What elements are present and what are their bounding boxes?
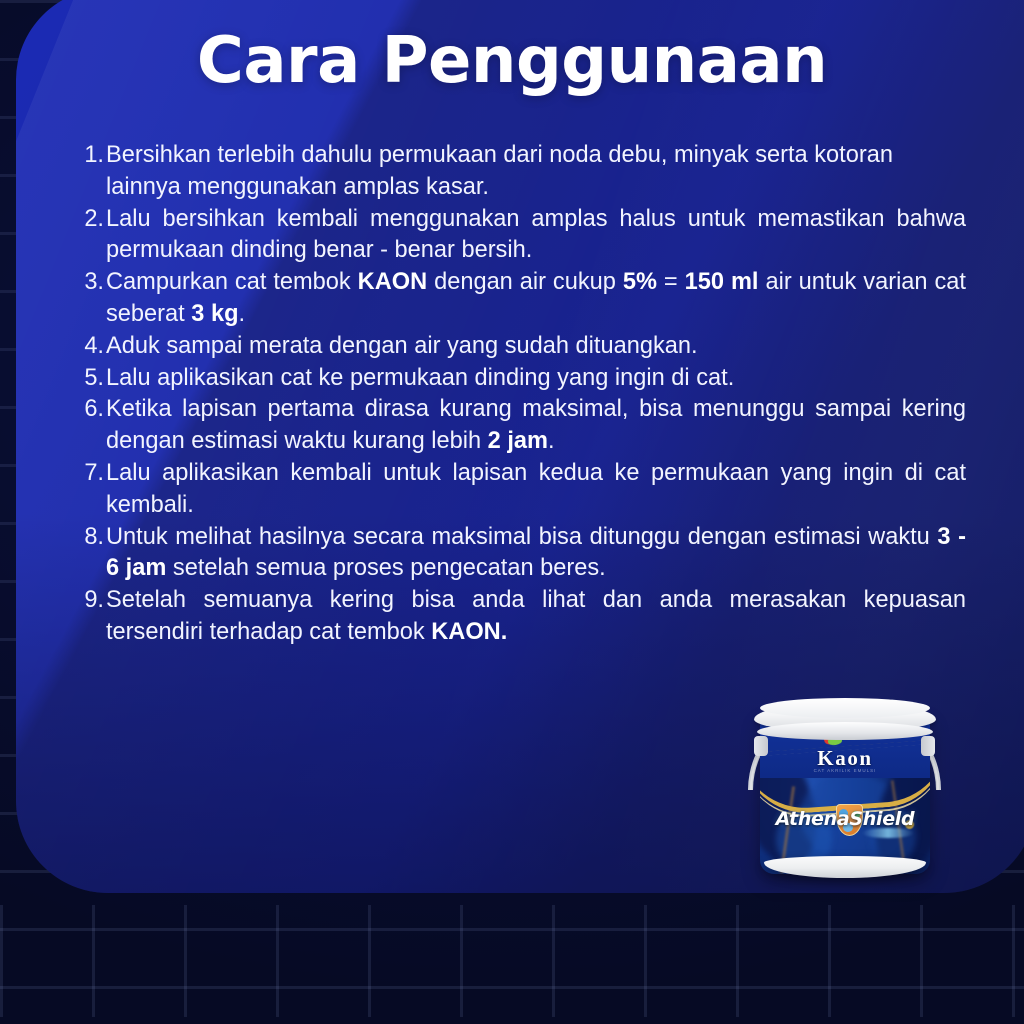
list-item-text: Lalu bersihkan kembali menggunakan ampla…	[106, 204, 966, 268]
body-text: Aduk sampai merata dengan air yang sudah…	[106, 333, 698, 359]
list-item: 4.Aduk sampai merata dengan air yang sud…	[78, 331, 966, 363]
list-item-text: Untuk melihat hasilnya secara maksimal b…	[106, 522, 966, 586]
body-text: =	[657, 269, 685, 295]
list-item: 5.Lalu aplikasikan cat ke permukaan dind…	[78, 363, 966, 395]
body-text: Campurkan cat tembok	[106, 269, 358, 295]
emphasis-text: 150 ml	[685, 269, 759, 295]
body-text: Untuk melihat hasilnya secara maksimal b…	[106, 524, 937, 550]
list-item: 2.Lalu bersihkan kembali menggunakan amp…	[78, 204, 966, 268]
emphasis-text: 3 kg	[191, 301, 238, 327]
list-item: 9.Setelah semuanya kering bisa anda liha…	[78, 585, 966, 649]
body-text: setelah semua proses pengecatan beres.	[166, 555, 605, 581]
list-item-text: Lalu aplikasikan kembali untuk lapisan k…	[106, 458, 966, 522]
body-text: Lalu aplikasikan kembali untuk lapisan k…	[106, 460, 966, 518]
body-text: .	[238, 301, 245, 327]
list-item-number: 6.	[78, 394, 106, 426]
list-item-number: 8.	[78, 522, 106, 554]
list-item: 8.Untuk melihat hasilnya secara maksimal…	[78, 522, 966, 586]
poster-canvas: Cara Penggunaan 1.Bersihkan terlebih dah…	[0, 0, 1024, 1024]
list-item-text: Setelah semuanya kering bisa anda lihat …	[106, 585, 966, 649]
list-item-number: 4.	[78, 331, 106, 363]
list-item-text: Ketika lapisan pertama dirasa kurang mak…	[106, 394, 966, 458]
list-item-text: Bersihkan terlebih dahulu permukaan dari…	[106, 140, 966, 204]
list-item: 7.Lalu aplikasikan kembali untuk lapisan…	[78, 458, 966, 522]
bucket-lid-top	[760, 698, 930, 718]
list-item-text: Aduk sampai merata dengan air yang sudah…	[106, 331, 966, 363]
body-text: dengan air cukup	[427, 269, 623, 295]
instruction-list: 1.Bersihkan terlebih dahulu permukaan da…	[78, 140, 966, 649]
emphasis-text: 2 jam	[488, 428, 548, 454]
list-item-number: 1.	[78, 140, 106, 172]
emphasis-text: KAON	[358, 269, 427, 295]
bucket-handle-ear-left	[754, 736, 768, 756]
bucket-rim	[757, 722, 933, 740]
water-wave-icon	[862, 828, 914, 838]
emphasis-text: KAON.	[431, 619, 507, 645]
body-text: Bersihkan terlebih dahulu permukaan dari…	[106, 142, 893, 200]
list-item-number: 2.	[78, 204, 106, 236]
list-item-number: 3.	[78, 267, 106, 299]
list-item: 1.Bersihkan terlebih dahulu permukaan da…	[78, 140, 966, 204]
list-item-number: 7.	[78, 458, 106, 490]
body-text: .	[548, 428, 555, 454]
list-item-number: 9.	[78, 585, 106, 617]
list-item: 6.Ketika lapisan pertama dirasa kurang m…	[78, 394, 966, 458]
bucket-handle-ear-right	[921, 736, 935, 756]
product-name: AthenaShield	[760, 808, 930, 830]
page-title: Cara Penggunaan	[0, 24, 1024, 98]
list-item-number: 5.	[78, 363, 106, 395]
list-item-text: Campurkan cat tembok KAON dengan air cuk…	[106, 267, 966, 331]
body-text: Lalu bersihkan kembali menggunakan ampla…	[106, 206, 966, 264]
list-item: 3.Campurkan cat tembok KAON dengan air c…	[78, 267, 966, 331]
emphasis-text: 5%	[623, 269, 657, 295]
product-image-paint-bucket: Kaon CAT AKRILIK EMULSI AthenaShield	[742, 678, 947, 883]
bucket-base	[764, 856, 926, 878]
body-text: Setelah semuanya kering bisa anda lihat …	[106, 587, 966, 645]
body-text: Lalu aplikasikan cat ke permukaan dindin…	[106, 365, 734, 391]
list-item-text: Lalu aplikasikan cat ke permukaan dindin…	[106, 363, 966, 395]
